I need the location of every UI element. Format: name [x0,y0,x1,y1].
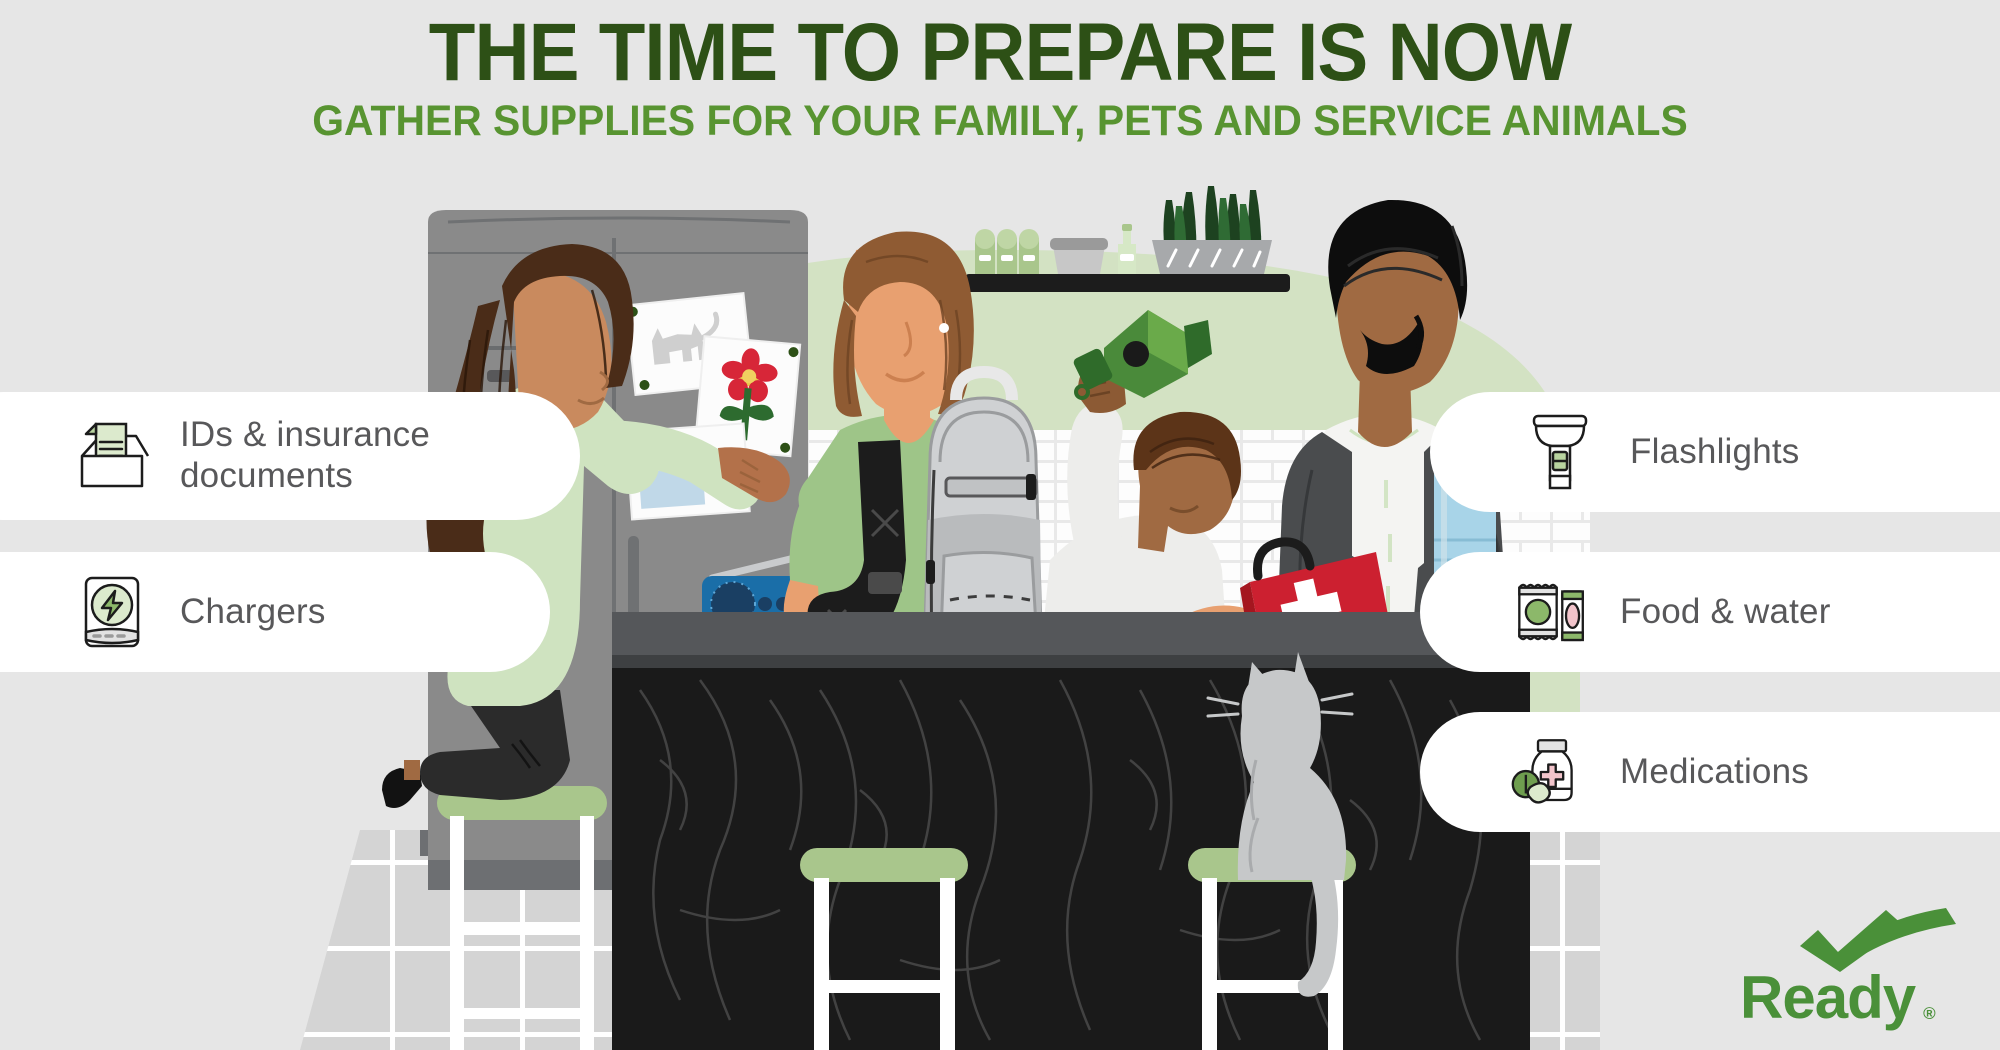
label-card-text: Flashlights [1630,432,1800,473]
label-card-food-water[interactable]: Food & water [1420,552,2000,672]
registered-trademark-symbol: ® [1923,1005,1935,1022]
shelf-bowl [1050,238,1108,274]
label-card-ids-insurance[interactable]: IDs & insurance documents [0,392,580,520]
page-subtitle: GATHER SUPPLIES FOR YOUR FAMILY, PETS AN… [50,100,1950,143]
shelf-jars [975,229,1039,274]
label-card-text: Chargers [180,592,326,633]
power-bank-charger-icon [70,570,154,654]
label-card-chargers[interactable]: Chargers [0,552,550,672]
logo-wordmark-row: Ready ® [1740,968,1935,1028]
label-card-text: IDs & insurance documents [180,415,430,496]
headline-block: THE TIME TO PREPARE IS NOW GATHER SUPPLI… [0,14,2000,143]
label-card-medications[interactable]: Medications [1420,712,2000,832]
infographic-poster: THE TIME TO PREPARE IS NOW GATHER SUPPLI… [0,0,2000,1050]
scene-graphics [0,0,2000,1050]
label-card-text: Food & water [1620,592,1831,633]
kitchen-counter [612,612,1558,1050]
ready-logo[interactable]: Ready ® [1740,908,1964,1028]
illustration-stage [0,0,2000,1050]
flashlight-icon [1520,410,1604,494]
pill-bottle-icon [1510,730,1594,814]
page-title: THE TIME TO PREPARE IS NOW [70,14,1930,92]
documents-tray-icon [70,414,154,498]
label-card-flashlights[interactable]: Flashlights [1430,392,2000,512]
logo-wordmark: Ready [1740,968,1915,1028]
label-card-text: Medications [1620,752,1809,793]
snack-bag-and-bar-icon [1510,570,1594,654]
